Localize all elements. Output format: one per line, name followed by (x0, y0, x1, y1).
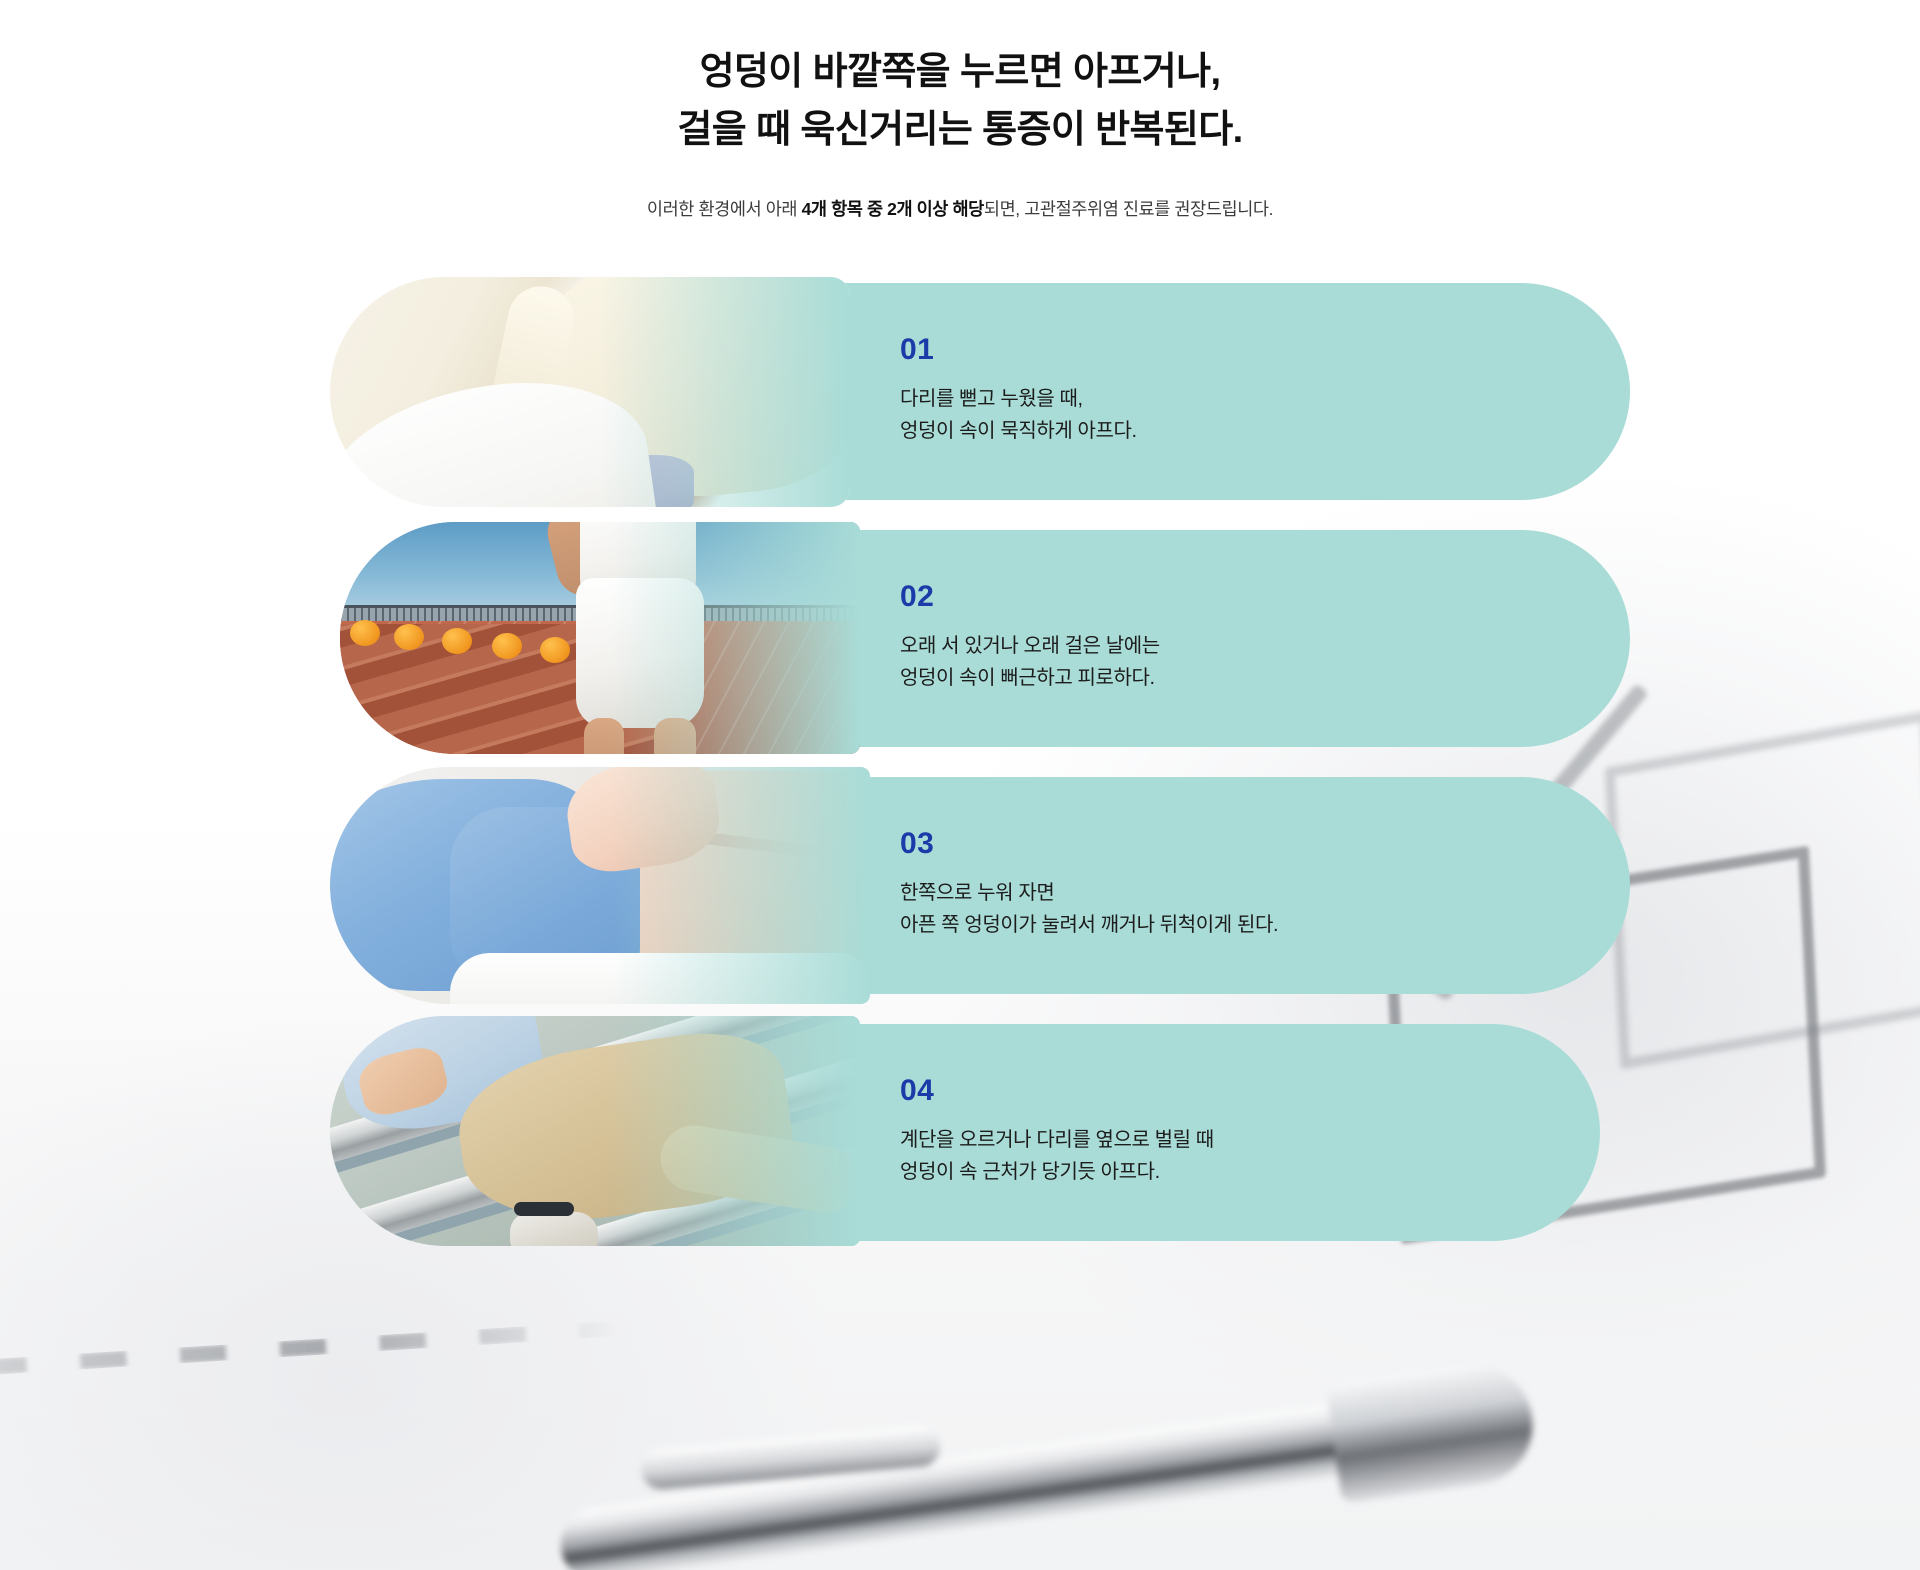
card-text-02: 02 오래 서 있거나 오래 걸은 날에는 엉덩이 속이 뻐근하고 피로하다. (900, 530, 1160, 747)
card-line-1: 오래 서 있거나 오래 걸은 날에는 (900, 630, 1160, 662)
checklist-item-02[interactable]: 02 오래 서 있거나 오래 걸은 날에는 엉덩이 속이 뻐근하고 피로하다. (0, 530, 1920, 747)
card-line-2: 엉덩이 속 근처가 당기듯 아프다. (900, 1156, 1214, 1188)
subtitle-emphasis: 4개 항목 중 2개 이상 해당 (802, 199, 984, 219)
page-title: 엉덩이 바깥쪽을 누르면 아프거나, 걸을 때 욱신거리는 통증이 반복된다. (0, 0, 1920, 160)
card-text-01: 01 다리를 뻗고 누웠을 때, 엉덩이 속이 묵직하게 아프다. (900, 283, 1137, 500)
subtitle-prefix: 이러한 환경에서 아래 (647, 199, 802, 219)
card-photo-04 (330, 1016, 860, 1246)
card-text-04: 04 계단을 오르거나 다리를 옆으로 벌릴 때 엉덩이 속 근처가 당기듯 아… (900, 1024, 1214, 1241)
subtitle-suffix: 되면, 고관절주위염 진료를 권장드립니다. (984, 199, 1273, 219)
card-photo-02 (340, 522, 860, 754)
dashed-line-decoration (0, 1320, 620, 1375)
card-line-1: 계단을 오르거나 다리를 옆으로 벌릴 때 (900, 1124, 1214, 1156)
card-photo-01 (330, 277, 850, 507)
card-number: 02 (900, 582, 1160, 612)
card-line-1: 다리를 뻗고 누웠을 때, (900, 383, 1137, 415)
page-root: 엉덩이 바깥쪽을 누르면 아프거나, 걸을 때 욱신거리는 통증이 반복된다. … (0, 0, 1920, 1241)
card-line-1: 한쪽으로 누워 자면 (900, 877, 1278, 909)
checklist-item-04[interactable]: 04 계단을 오르거나 다리를 옆으로 벌릴 때 엉덩이 속 근처가 당기듯 아… (0, 1024, 1920, 1241)
pen-illustration (548, 1329, 1473, 1570)
page-subtitle: 이러한 환경에서 아래 4개 항목 중 2개 이상 해당되면, 고관절주위염 진… (0, 196, 1920, 221)
card-photo-03 (330, 767, 870, 1004)
card-number: 03 (900, 829, 1278, 859)
card-line-2: 엉덩이 속이 뻐근하고 피로하다. (900, 662, 1160, 694)
symptom-checklist: 01 다리를 뻗고 누웠을 때, 엉덩이 속이 묵직하게 아프다. (0, 283, 1920, 1241)
card-text-03: 03 한쪽으로 누워 자면 아픈 쪽 엉덩이가 눌려서 깨거나 뒤척이게 된다. (900, 777, 1278, 994)
headline-line-1: 엉덩이 바깥쪽을 누르면 아프거나, (700, 51, 1221, 93)
checklist-item-03[interactable]: 03 한쪽으로 누워 자면 아픈 쪽 엉덩이가 눌려서 깨거나 뒤척이게 된다. (0, 777, 1920, 994)
card-line-2: 엉덩이 속이 묵직하게 아프다. (900, 415, 1137, 447)
card-line-2: 아픈 쪽 엉덩이가 눌려서 깨거나 뒤척이게 된다. (900, 909, 1278, 941)
card-number: 04 (900, 1076, 1214, 1106)
headline-line-2: 걸을 때 욱신거리는 통증이 반복된다. (0, 102, 1920, 160)
card-number: 01 (900, 335, 1137, 365)
checklist-item-01[interactable]: 01 다리를 뻗고 누웠을 때, 엉덩이 속이 묵직하게 아프다. (0, 283, 1920, 500)
